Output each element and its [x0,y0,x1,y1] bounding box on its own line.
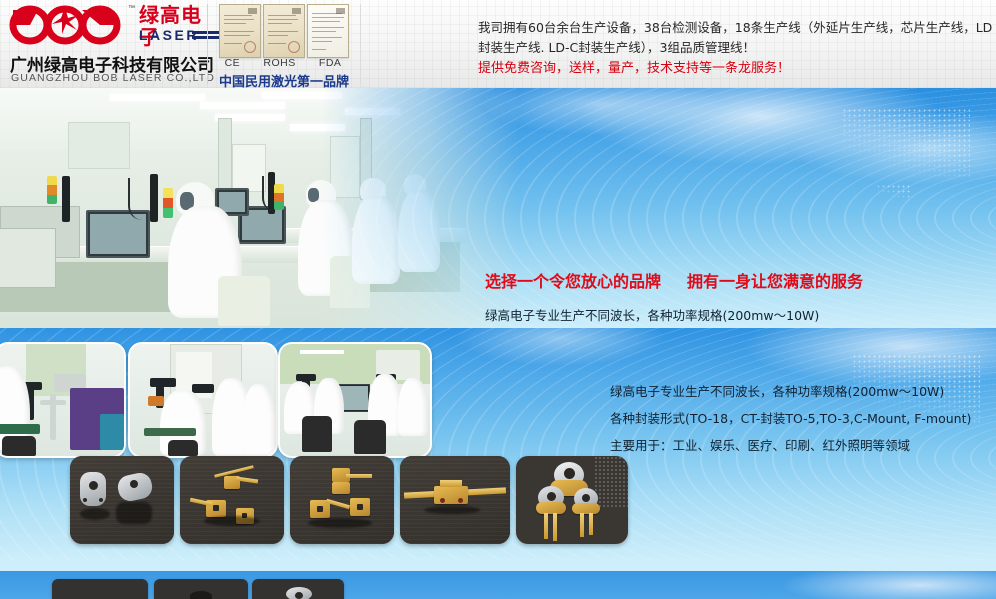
band1-headline: 选择一个令您放心的品牌拥有一身让您满意的服务 [485,268,905,292]
headline-right: 拥有一身让您满意的服务 [687,272,863,291]
brand-name-en: LASER [139,27,199,43]
band2-spec-line-3: 主要用于：工业、娱乐、医疗、印刷、红外照明等领域 [610,432,996,459]
band1-text-block: 选择一个令您放心的品牌拥有一身让您满意的服务 绿高电子专业生产不同波长，各种功率… [485,268,905,328]
certificate-images [213,4,353,56]
trademark-symbol: ™ [128,5,135,12]
certificate-labels: CE ROHS FDA [213,57,353,69]
cert-label-ce: CE [225,57,241,69]
product-photo-3[interactable] [290,456,394,544]
bob-logo-icon [8,4,126,46]
facility-photo-1[interactable] [0,342,126,458]
company-intro-text: 我司拥有60台余台生产设备，38台检测设备，18条生产线（外延片生产线，芯片生产… [478,18,994,80]
product-photo-1[interactable] [70,456,174,544]
band2-text-block: 绿高电子专业生产不同波长，各种功率规格(200mw～10W) 各种封装形式(TO… [610,378,996,459]
dot-pattern-decoration-small [876,184,912,198]
band1-spec-line-1: 绿高电子专业生产不同波长，各种功率规格(200mw～10W) [485,304,905,328]
facility-photo-3[interactable] [278,342,432,458]
product-photo-4[interactable] [400,456,510,544]
dot-pattern-decoration [842,108,970,178]
cert-label-fda: FDA [319,57,342,69]
intro-line-2: 封装生产线. LD-C封装生产线），3组品质管理线！ [478,38,994,58]
band-cleanroom: 选择一个令您放心的品牌拥有一身让您满意的服务 绿高电子专业生产不同波长，各种功率… [0,88,996,328]
certificate-image-fda [307,4,349,58]
header-divider-1 [207,4,208,84]
promo-page: ™ 绿高电子 LASER 广州绿高电子科技有限公司 GUANGZHOU BOB … [0,0,996,599]
facility-photo-2[interactable] [128,342,278,458]
headline-left: 选择一个令您放心的品牌 [485,272,661,291]
facility-photo-strip [0,342,440,454]
band2-spec-line-1: 绿高电子专业生产不同波长，各种功率规格(200mw～10W) [610,378,996,405]
header-divider-2 [360,4,361,84]
sky-background-3 [0,571,996,599]
band-next-section [0,571,996,599]
certificates-block: CE ROHS FDA 中国民用激光第一品牌 [213,4,353,88]
product-photo-strip [70,456,630,548]
certificate-image-rohs [263,4,305,58]
company-name-en: GUANGZHOU BOB LASER CO.,LTD [11,72,215,84]
page-header: ™ 绿高电子 LASER 广州绿高电子科技有限公司 GUANGZHOU BOB … [0,0,996,89]
product-photo-5[interactable] [516,456,628,544]
cert-label-rohs: ROHS [263,57,295,69]
cleanroom-photo [0,88,520,328]
intro-line-1: 我司拥有60台余台生产设备，38台检测设备，18条生产线（外延片生产线，芯片生产… [478,18,994,38]
logo-row: ™ 绿高电子 LASER [6,2,206,50]
intro-line-3-highlight: 提供免费咨询，送样，量产，技术支持等一条龙服务！ [478,58,994,80]
product-photo-2[interactable] [180,456,284,544]
section-gap [0,560,996,571]
brand-tagline: 中国民用激光第一品牌 [215,71,353,89]
band2-spec-line-2: 各种封装形式(TO-18，CT-封装TO-5,TO-3,C-Mount, F-m… [610,405,996,432]
band-products: 绿高电子专业生产不同波长，各种功率规格(200mw～10W) 各种封装形式(TO… [0,328,996,560]
company-logo-block[interactable]: ™ 绿高电子 LASER 广州绿高电子科技有限公司 GUANGZHOU BOB … [6,2,206,86]
next-product-photo-1[interactable] [52,579,148,599]
certificate-image-ce [219,4,261,58]
next-product-photo-2[interactable] [154,579,248,599]
next-product-photo-3[interactable] [252,579,344,599]
